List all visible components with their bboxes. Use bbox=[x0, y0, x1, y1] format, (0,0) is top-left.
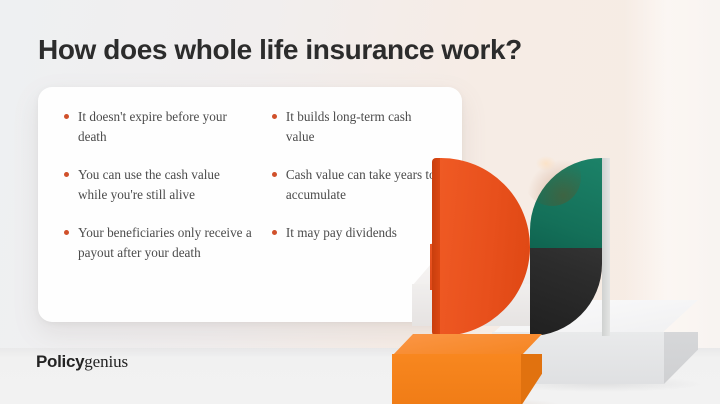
bullet-dot-icon bbox=[64, 114, 69, 119]
bullet-text: Your beneficiaries only receive a payout… bbox=[78, 223, 252, 262]
logo-serif-part: genius bbox=[84, 352, 128, 371]
bullet-dot-icon bbox=[272, 172, 277, 177]
page-title: How does whole life insurance work? bbox=[38, 34, 522, 66]
list-item: It builds long-term cash value bbox=[272, 107, 440, 146]
bullet-text: It may pay dividends bbox=[286, 223, 397, 243]
bullet-dot-icon bbox=[272, 230, 277, 235]
logo-bold-part: Policy bbox=[36, 352, 84, 371]
list-item: It doesn't expire before your death bbox=[64, 107, 252, 146]
bullet-dot-icon bbox=[64, 230, 69, 235]
orange-block-top bbox=[392, 334, 542, 356]
bullet-text: It builds long-term cash value bbox=[286, 107, 440, 146]
bullet-dot-icon bbox=[64, 172, 69, 177]
list-item: Your beneficiaries only receive a payout… bbox=[64, 223, 252, 262]
bullet-text: It doesn't expire before your death bbox=[78, 107, 252, 146]
bullet-dot-icon bbox=[272, 114, 277, 119]
white-platform-side bbox=[664, 332, 698, 384]
bullet-text: You can use the cash value while you're … bbox=[78, 165, 252, 204]
right-disc-edge bbox=[602, 158, 610, 336]
orange-sphere-highlight bbox=[536, 156, 556, 171]
orange-block-face bbox=[392, 354, 521, 404]
slide-stage: How does whole life insurance work? It d… bbox=[0, 0, 720, 404]
policygenius-logo: Policygenius bbox=[36, 352, 128, 372]
hero-illustration bbox=[392, 148, 720, 404]
bullet-column-left: It doesn't expire before your death You … bbox=[64, 107, 252, 322]
list-item: You can use the cash value while you're … bbox=[64, 165, 252, 204]
